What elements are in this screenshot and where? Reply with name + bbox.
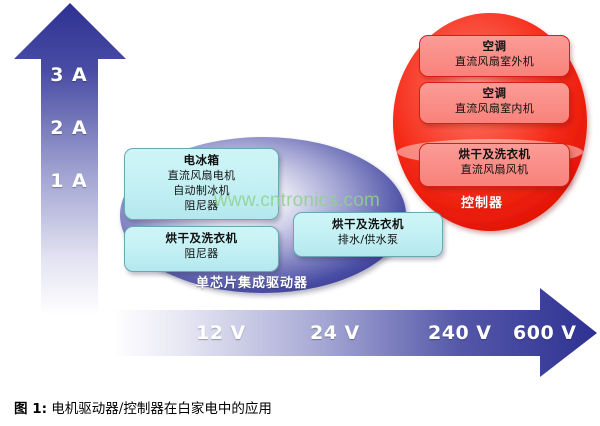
current-axis-arrow [14, 3, 126, 315]
voltage-tick-240v: 240 V [428, 322, 491, 344]
current-tick-2a: 2 A [34, 117, 104, 139]
voltage-tick-24v: 24 V [310, 322, 360, 344]
app-box-dryer-washer-damper-line-1: 阻尼器 [125, 246, 278, 261]
app-box-refrigerator-line-1: 直流风扇电机 [125, 168, 278, 183]
app-box-dryer-washer-damper[interactable]: 烘干及洗衣机 阻尼器 [124, 226, 279, 272]
ctrl-box-ac-outdoor[interactable]: 空调 直流风扇室外机 [419, 35, 570, 77]
app-box-dryer-washer-pump-line-1: 排水/供水泵 [294, 232, 442, 247]
site-watermark: www.cntronics.com [214, 190, 380, 212]
app-box-dryer-washer-pump-title: 烘干及洗衣机 [294, 217, 442, 232]
ctrl-box-dryer-washer-fan-line-1: 直流风扇风机 [420, 162, 569, 177]
figure-caption-number: 图 1: [14, 401, 47, 417]
ctrl-box-ac-indoor[interactable]: 空调 直流风扇室内机 [419, 82, 570, 124]
voltage-tick-600v: 600 V [513, 322, 576, 344]
current-tick-1a: 1 A [34, 170, 104, 192]
ctrl-box-ac-indoor-line-1: 直流风扇室内机 [420, 101, 569, 116]
current-tick-3a: 3 A [34, 64, 104, 86]
ctrl-box-ac-outdoor-title: 空调 [420, 39, 569, 54]
ctrl-box-ac-outdoor-line-1: 直流风扇室外机 [420, 54, 569, 69]
app-box-dryer-washer-damper-title: 烘干及洗衣机 [125, 231, 278, 246]
app-box-refrigerator-title: 电冰箱 [125, 153, 278, 168]
controller-label: 控制器 [461, 192, 503, 211]
single-chip-driver-label: 单芯片集成驱动器 [196, 272, 308, 291]
figure-canvas: 3 A 2 A 1 A 12 V 24 V 240 V 600 V 电冰箱 直流… [0, 0, 600, 426]
ctrl-box-dryer-washer-fan-title: 烘干及洗衣机 [420, 147, 569, 162]
figure-caption: 图 1: 电机驱动器/控制器在白家电中的应用 [14, 397, 272, 417]
ctrl-box-dryer-washer-fan[interactable]: 烘干及洗衣机 直流风扇风机 [419, 143, 570, 187]
figure-caption-text: 电机驱动器/控制器在白家电中的应用 [51, 401, 272, 417]
app-box-dryer-washer-pump[interactable]: 烘干及洗衣机 排水/供水泵 [293, 212, 443, 257]
voltage-tick-12v: 12 V [196, 322, 246, 344]
ctrl-box-ac-indoor-title: 空调 [420, 86, 569, 101]
